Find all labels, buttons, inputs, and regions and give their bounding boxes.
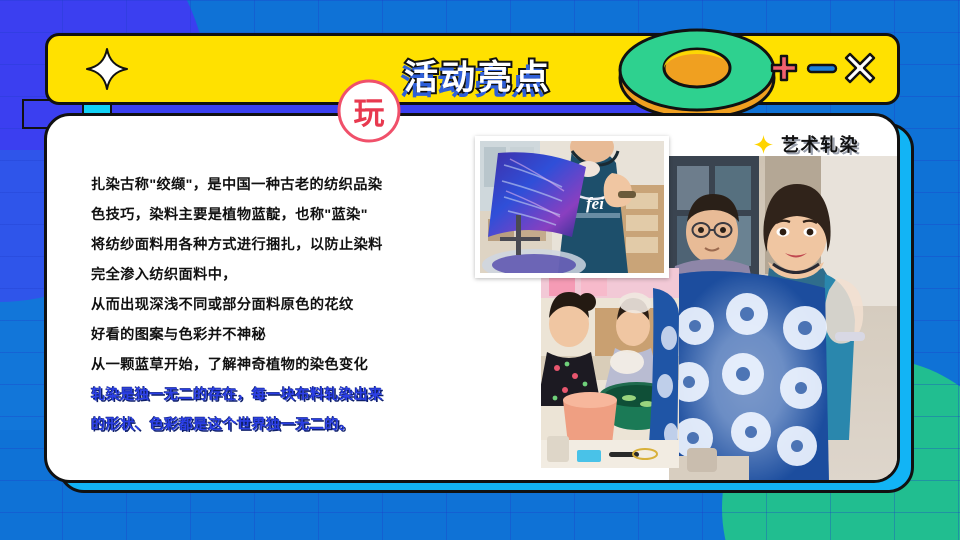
photo-children-dyeing <box>541 268 679 468</box>
svg-text:玩: 玩 <box>354 96 385 131</box>
body-line: 从一颗蓝草开始，了解神奇植物的染色变化 <box>91 350 476 380</box>
body-line: 从而出现深浅不同或部分面料原色的花纹 <box>91 290 476 320</box>
photo-two-people-cloth <box>669 156 897 483</box>
slide-root: 活动亮点 <box>0 0 960 540</box>
sparkle-4-point-icon <box>85 47 129 91</box>
svg-text:fei: fei <box>586 194 604 213</box>
play-badge[interactable]: 玩 <box>336 78 402 144</box>
close-icon[interactable] <box>844 52 876 84</box>
content-card: 艺术轧染 <box>44 113 900 483</box>
body-line-accent: 的形状、色彩都是这个世界独一无二的。 <box>91 410 476 440</box>
body-line: 色技巧，染料主要是植物蓝靛，也称"蓝染" <box>91 200 476 230</box>
body-line: 完全渗入纺织面料中， <box>91 260 476 290</box>
body-line: 好看的图案与色彩并不神秘 <box>91 320 476 350</box>
body-line-accent: 轧染是独一无二的存在，每一块布料轧染出来 <box>91 380 476 410</box>
art-label: 艺术轧染 <box>754 131 859 157</box>
page-title: 活动亮点 <box>404 50 552 99</box>
window-controls <box>768 52 878 86</box>
art-label-text: 艺术轧染 <box>781 131 859 157</box>
body-line: 扎染古称"绞缬"，是中国一种古老的纺织品染 <box>91 170 476 200</box>
minus-icon[interactable] <box>806 52 838 84</box>
sparkle-4-point-icon <box>754 135 773 154</box>
plus-icon[interactable] <box>768 52 800 84</box>
photo-tiedye-pouch: fei <box>475 136 669 278</box>
card-body-text: 扎染古称"绞缬"，是中国一种古老的纺织品染 色技巧，染料主要是植物蓝靛，也称"蓝… <box>91 170 476 440</box>
body-line: 将纺纱面料用各种方式进行捆扎，以防止染料 <box>91 230 476 260</box>
